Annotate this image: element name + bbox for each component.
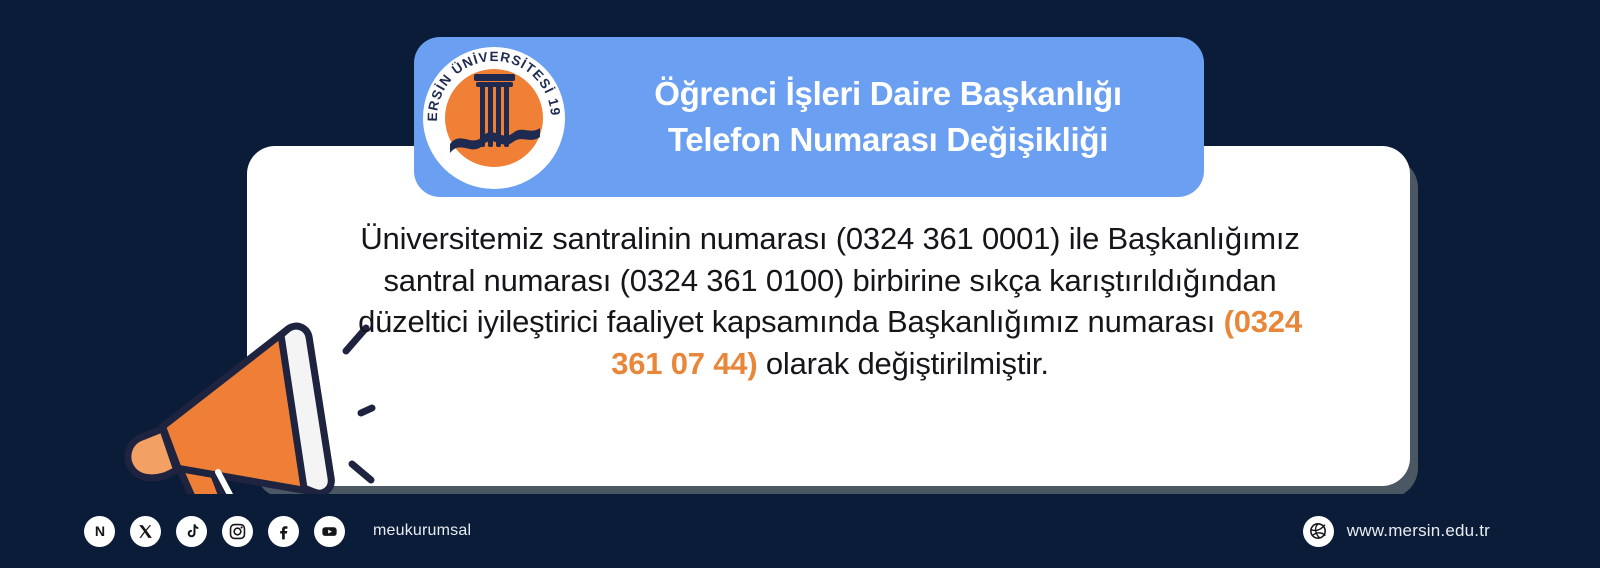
header-title-line-2: Telefon Numarası Değişikliği — [668, 119, 1108, 161]
globe-icon[interactable] — [1303, 516, 1334, 547]
social-handle: meukurumsal — [373, 522, 471, 540]
nsosyal-icon[interactable]: N — [84, 516, 115, 547]
footer-bar: N — [0, 494, 1600, 568]
svg-text:N: N — [94, 524, 104, 540]
mersin-universitesi-logo: MERSİN ÜNİVERSİTESİ 1992 — [414, 38, 574, 198]
website-url: www.mersin.edu.tr — [1347, 521, 1490, 541]
announcement-poster: MERSİN ÜNİVERSİTESİ 1992 Öğrenci İşleri … — [0, 0, 1600, 568]
youtube-icon[interactable] — [314, 516, 345, 547]
x-twitter-icon[interactable] — [130, 516, 161, 547]
website-link[interactable]: www.mersin.edu.tr — [1303, 494, 1490, 568]
tiktok-icon[interactable] — [176, 516, 207, 547]
header-title: Öğrenci İşleri Daire Başkanlığı Telefon … — [588, 37, 1188, 197]
announcement-body-before: Üniversitemiz santralinin numarası (0324… — [358, 221, 1300, 339]
instagram-icon[interactable] — [222, 516, 253, 547]
social-links: N — [84, 494, 471, 568]
announcement-body-after: olarak değiştirilmiştir. — [757, 346, 1048, 381]
facebook-icon[interactable] — [268, 516, 299, 547]
announcement-body: Üniversitemiz santralinin numarası (0324… — [330, 218, 1330, 384]
header-title-line-1: Öğrenci İşleri Daire Başkanlığı — [654, 73, 1122, 115]
